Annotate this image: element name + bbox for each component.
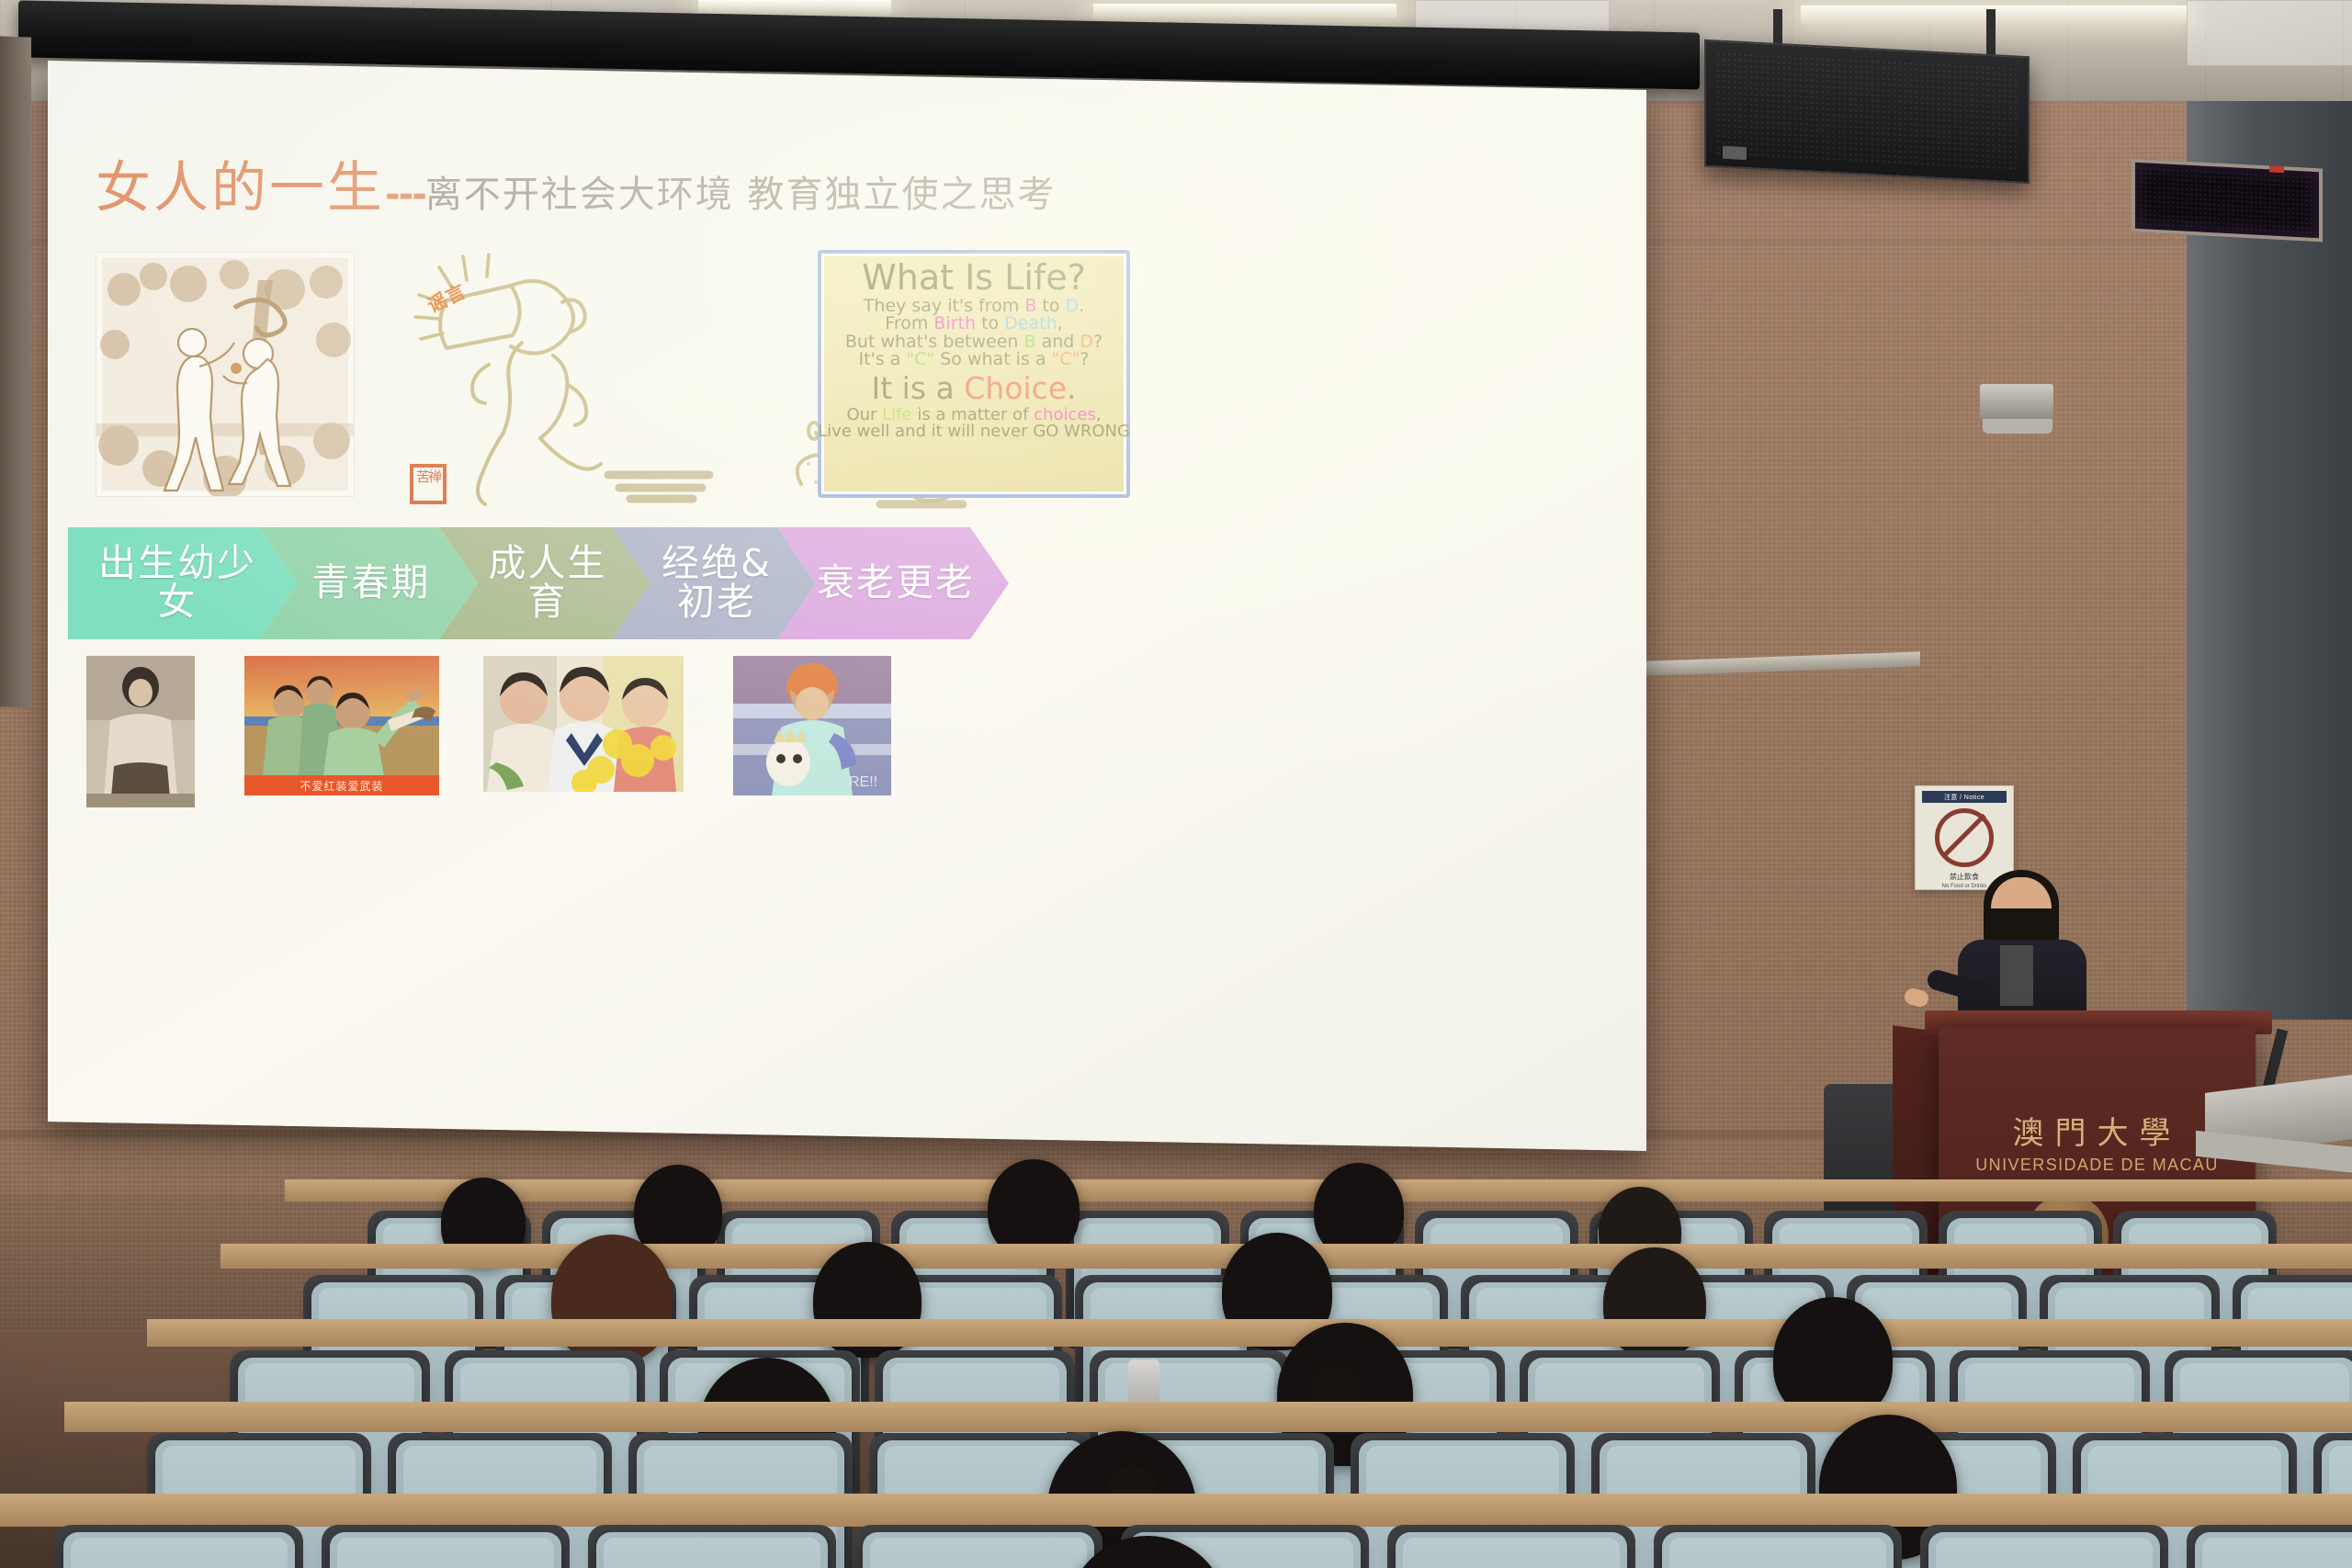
speaker-badge [1723,146,1747,160]
seat-back [870,1538,1087,1568]
photo-athlete-with-mascot: RE!! [733,656,891,795]
svg-text:RE!!: RE!! [849,774,877,790]
seat [2195,1532,2352,1568]
slide-title-dash: --- [385,174,425,216]
seat-back [1936,1538,2153,1568]
life-stage-label: 衰老更老 [786,564,1001,603]
life-stage-photos: 不爱红装爱武装 [68,656,1134,840]
photo-qing-dynasty-woman [86,656,195,807]
ceiling-camera [1980,384,2053,421]
led-dot-matrix [2139,166,2315,234]
camera-mount [1983,419,2052,434]
seat [330,1532,561,1568]
artist-seal: 苦禅 [410,464,447,504]
ceiling-light-mid [1093,4,1396,18]
poster-line-4: It's a "C" So what is a "C"? [859,351,1090,368]
no-food-icon [1935,808,1994,867]
life-stage-1: 出生幼少女 [68,527,298,639]
seat [1396,1532,1627,1568]
seat-back [71,1538,288,1568]
speaker-grille [1715,51,2018,172]
life-stage-chevrons: 出生幼少女青春期成人生育经绝&初老衰老更老 [68,527,1079,639]
slide-title-sub: 离不开社会大环境 教育独立使之思考 [425,174,1057,216]
desk-row-3 [147,1319,2352,1347]
poster-big-line: It is a Choice. [872,373,1077,404]
adam-and-eve-engraving [96,252,355,497]
seat [1662,1532,1894,1568]
seat-back [604,1538,820,1568]
lecture-hall-scene: 女人的一生---离不开社会大环境 教育独立使之思考 [0,0,2352,1568]
seat [863,1532,1094,1568]
presenter-shirt [2000,945,2033,1006]
life-stage-label: 出生幼少女 [68,545,298,622]
photo-caption: 不爱红装爱武装 [244,775,439,795]
screen-left-edge [0,36,31,707]
slide-title-main: 女人的一生 [96,156,385,220]
notice-header: 注意 / Notice [1922,791,2006,803]
desk-row-4 [64,1402,2352,1432]
seat-back [337,1538,554,1568]
led-display [2131,159,2323,243]
photo-three-smiling-women [483,656,684,792]
seat-back [2202,1538,2352,1568]
podium-name-portuguese: UNIVERSIDADE DE MACAU [1939,1156,2256,1175]
presentation-slide: 女人的一生---离不开社会大环境 教育独立使之思考 [48,86,1646,1147]
desk-row-5 [0,1494,2352,1527]
slide-title: 女人的一生---离不开社会大环境 教育独立使之思考 [96,143,1057,223]
poster-heading: What Is Life? [862,260,1086,296]
photo-militia-women-poster: 不爱红装爱武装 [244,656,439,795]
ceiling-speaker [1704,39,2030,185]
seat-back [1669,1538,1886,1568]
projection-screen[interactable]: 女人的一生---离不开社会大环境 教育独立使之思考 [48,61,1646,1151]
ceiling-panel-2 [2187,0,2352,66]
life-stage-label: 青春期 [281,564,457,603]
seat [596,1532,828,1568]
seat [1928,1532,2160,1568]
seat [63,1532,295,1568]
no-food-notice-sign: 注意 / Notice 禁止飲食 No Food or Drinks [1915,785,2014,890]
seat-back [1403,1538,1620,1568]
led-indicator [2269,165,2284,173]
poster-closing-2: Live well and it will never GO WRONG [818,423,1130,440]
what-is-life-poster: What Is Life? They say it's from B to D.… [818,250,1130,498]
ceiling-light-left [698,0,891,15]
